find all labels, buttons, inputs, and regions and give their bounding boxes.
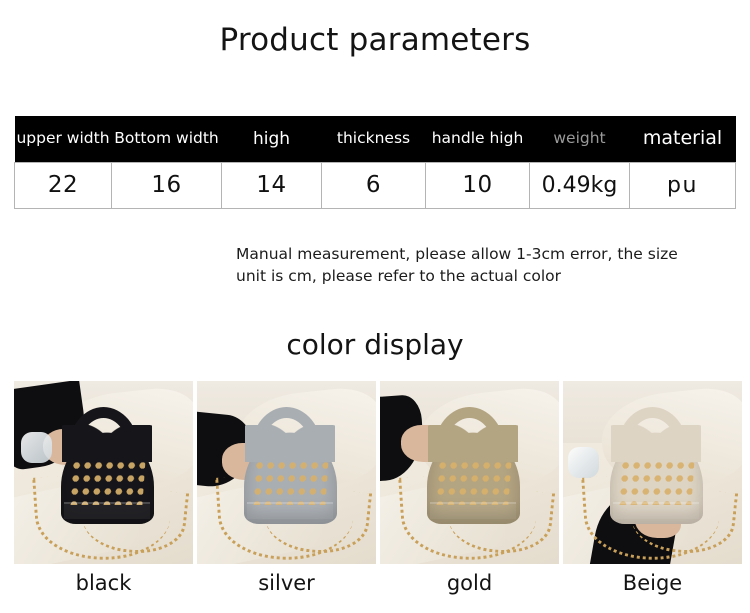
spec-value-handle-high: 10 bbox=[426, 162, 530, 208]
color-label-beige: Beige bbox=[623, 573, 682, 594]
bag-studs bbox=[251, 459, 329, 505]
crystal-prop bbox=[568, 447, 598, 478]
bag-studs bbox=[617, 459, 695, 505]
spec-header-bottom-width: Bottom width bbox=[112, 116, 222, 162]
spec-table: upper width Bottom width high thickness … bbox=[14, 116, 736, 209]
product-photo-black[interactable] bbox=[14, 381, 193, 564]
spec-header-thickness: thickness bbox=[322, 116, 426, 162]
color-swatch-beige[interactable]: Beige bbox=[563, 381, 742, 594]
color-swatch-gold[interactable]: gold bbox=[380, 381, 559, 594]
spec-table-header-row: upper width Bottom width high thickness … bbox=[15, 116, 736, 162]
color-gallery: black silver bbox=[14, 381, 736, 594]
crystal-prop bbox=[21, 432, 51, 463]
page-title: Product parameters bbox=[0, 22, 750, 58]
color-swatch-black[interactable]: black bbox=[14, 381, 193, 594]
spec-value-material: pu bbox=[630, 162, 736, 208]
spec-header-weight: weight bbox=[530, 116, 630, 162]
color-label-gold: gold bbox=[447, 573, 492, 594]
color-label-silver: silver bbox=[258, 573, 315, 594]
bag-studs bbox=[434, 459, 512, 505]
spec-header-high: high bbox=[222, 116, 322, 162]
bag-band bbox=[247, 502, 333, 520]
spec-header-upper-width: upper width bbox=[15, 116, 112, 162]
crown-handbag bbox=[61, 436, 154, 524]
spec-value-weight: 0.49kg bbox=[530, 162, 630, 208]
crown-handbag bbox=[244, 436, 337, 524]
color-swatch-silver[interactable]: silver bbox=[197, 381, 376, 594]
bag-band bbox=[64, 502, 150, 520]
spec-value-thickness: 6 bbox=[322, 162, 426, 208]
bag-band bbox=[430, 502, 516, 520]
color-label-black: black bbox=[76, 573, 132, 594]
measurement-note: Manual measurement, please allow 1-3cm e… bbox=[236, 243, 706, 288]
crown-handbag bbox=[610, 436, 703, 524]
crown-handbag bbox=[427, 436, 520, 524]
spec-value-upper-width: 22 bbox=[15, 162, 112, 208]
spec-table-value-row: 22 16 14 6 10 0.49kg pu bbox=[15, 162, 736, 208]
bag-band bbox=[613, 502, 699, 520]
spec-value-bottom-width: 16 bbox=[112, 162, 222, 208]
spec-header-material: material bbox=[630, 116, 736, 162]
bag-studs bbox=[68, 459, 146, 505]
spec-header-handle-high: handle high bbox=[426, 116, 530, 162]
product-photo-silver[interactable] bbox=[197, 381, 376, 564]
color-display-heading: color display bbox=[0, 328, 750, 361]
product-photo-beige[interactable] bbox=[563, 381, 742, 564]
product-photo-gold[interactable] bbox=[380, 381, 559, 564]
spec-value-high: 14 bbox=[222, 162, 322, 208]
